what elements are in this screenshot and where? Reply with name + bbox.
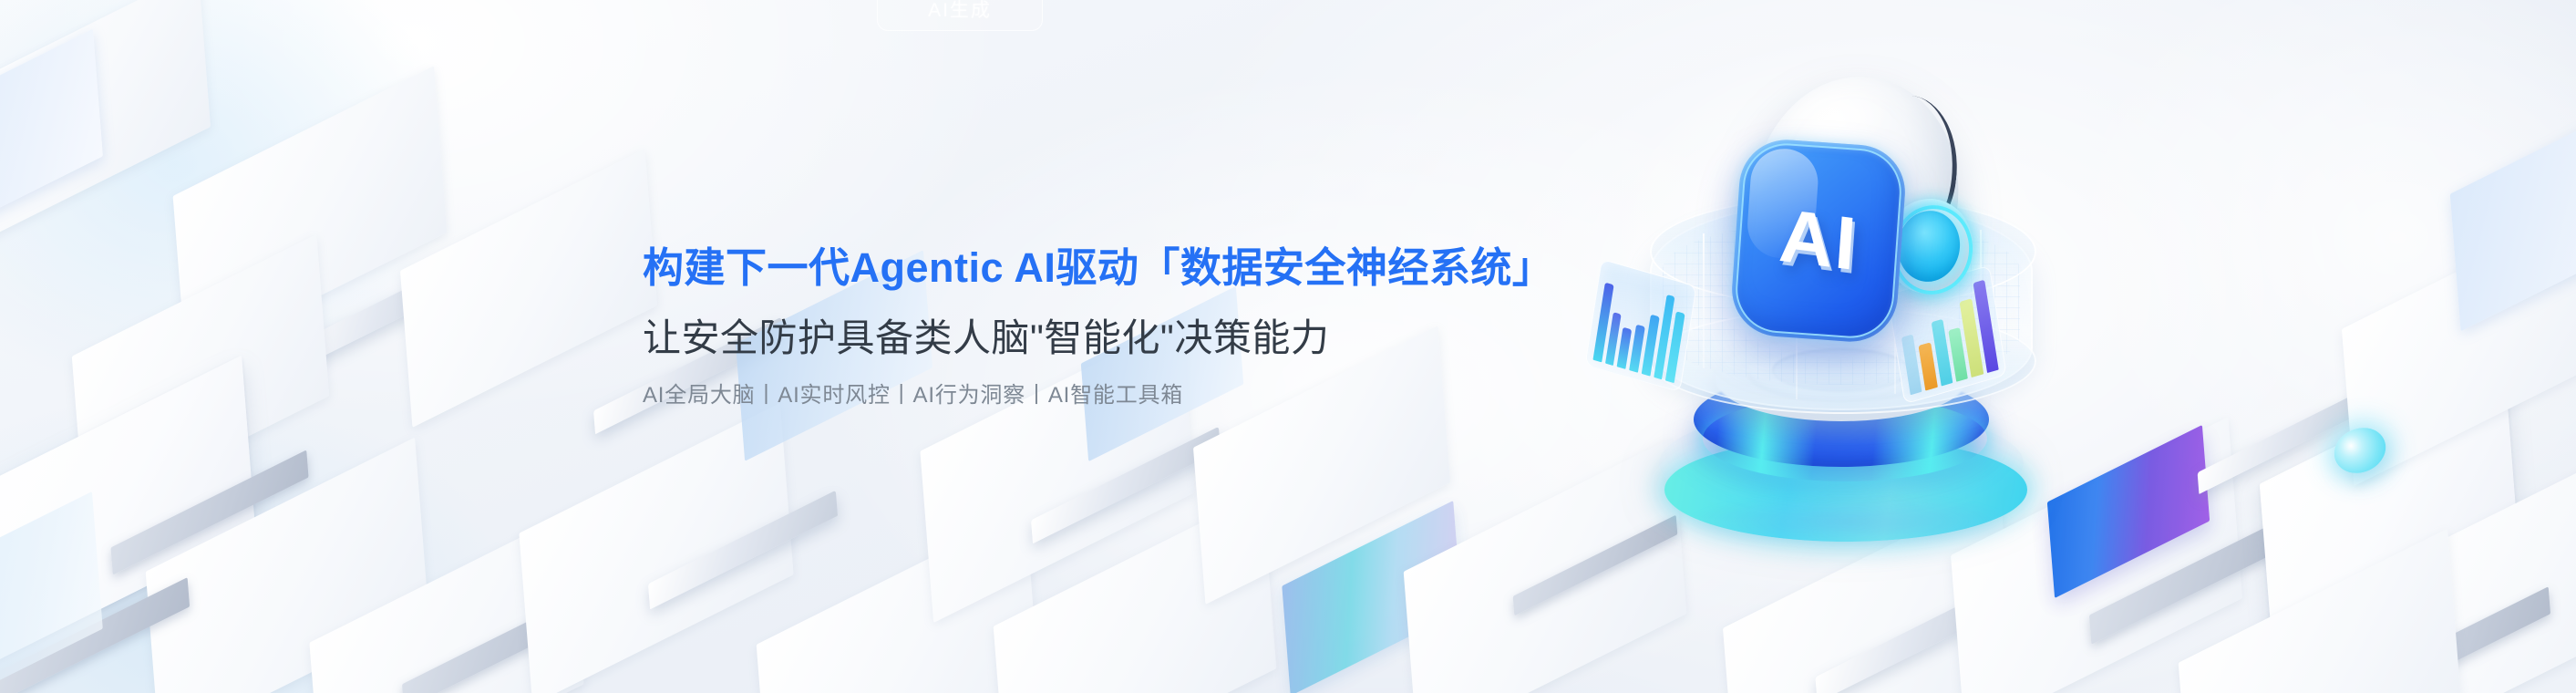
- ai-robot-illustration: AI: [1550, 27, 2115, 538]
- hero-copy-block: 构建下一代Agentic AI驱动「数据安全神经系统」 让安全防护具备类人脑"智…: [643, 244, 1554, 409]
- ai-badge: AI: [1729, 137, 1909, 345]
- page-title: 构建下一代Agentic AI驱动「数据安全神经系统」: [643, 244, 1554, 292]
- ai-badge-label: AI: [1777, 193, 1860, 288]
- cylinder-seam: [1703, 233, 1705, 368]
- podium-reflection: [1686, 494, 2014, 549]
- bar: [1901, 334, 1922, 395]
- hero-feature-list: AI全局大脑丨AI实时风控丨AI行为洞察丨AI智能工具箱: [643, 381, 1554, 409]
- robot-head: AI: [1728, 71, 1973, 315]
- hero-subheading: 让安全防护具备类人脑"智能化"决策能力: [643, 315, 1554, 361]
- ai-security-hero-banner: AI生成 构建下一代Agentic AI驱动「数据安全神经系统」 让安全防护具备…: [0, 0, 2576, 693]
- ai-generated-watermark: AI生成: [877, 0, 1043, 31]
